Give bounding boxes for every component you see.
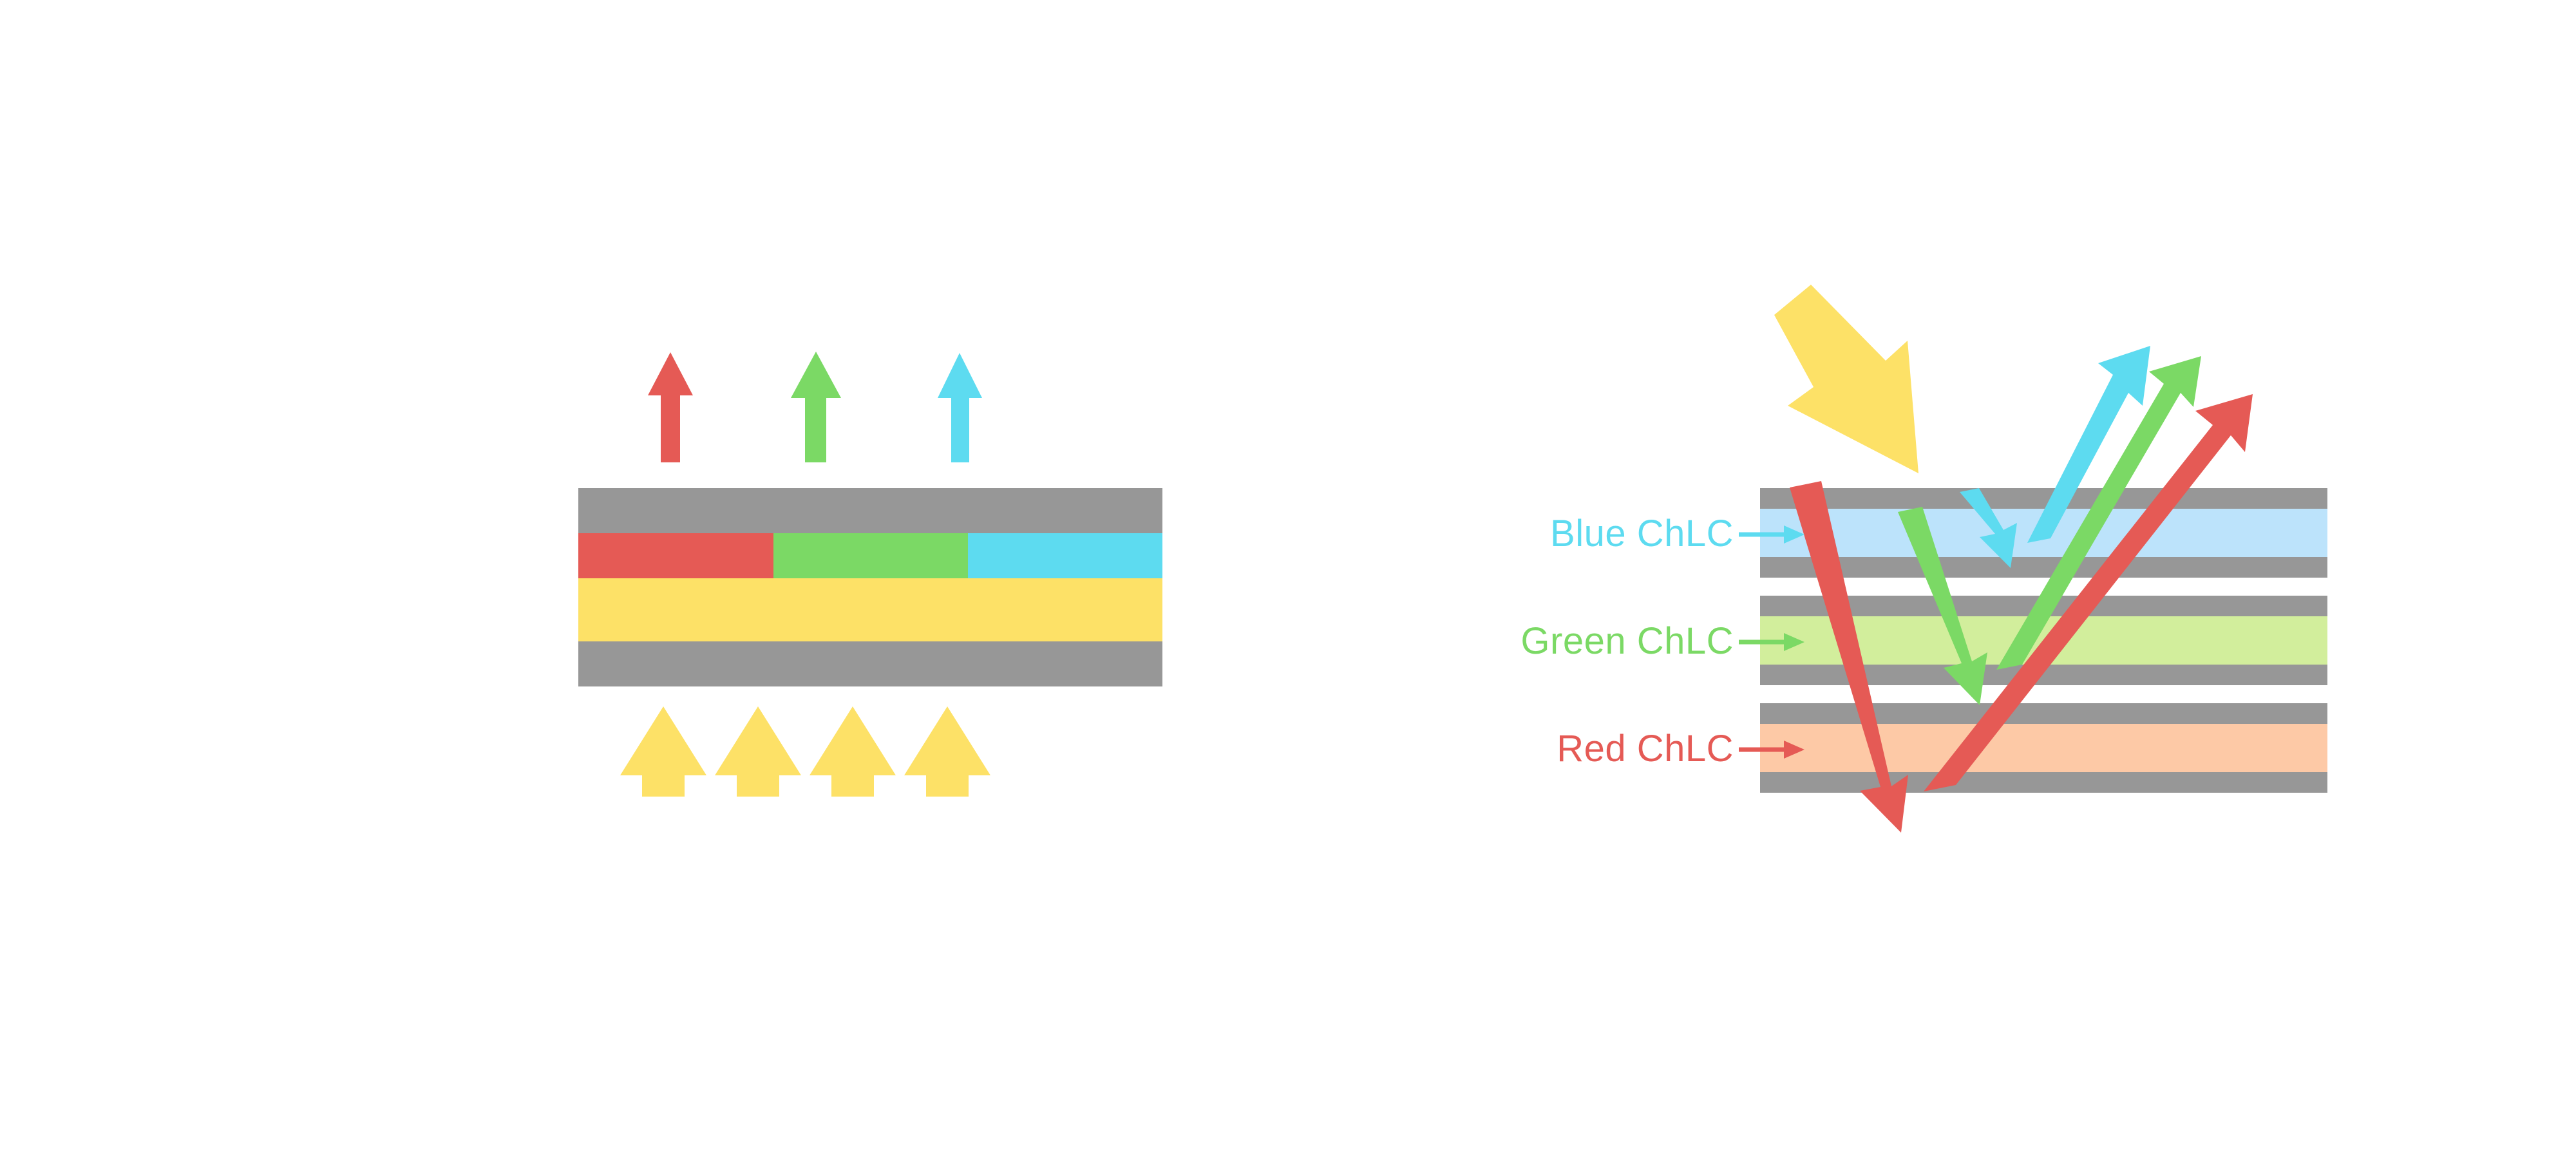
blue-top-substrate — [1760, 488, 2327, 509]
red-chlc-label-text: Red ChLC — [1557, 728, 1734, 770]
green-filter-segment — [773, 533, 968, 578]
red-bottom-substrate — [1760, 772, 2327, 793]
green-chlc-label-text: Green ChLC — [1520, 620, 1734, 662]
gap-2 — [1760, 685, 2327, 703]
bottom-electrode-layer — [578, 641, 1162, 686]
blue-chlc-label-text: Blue ChLC — [1550, 513, 1734, 554]
transmissive-color-filter-stack — [578, 488, 1162, 686]
blue-bottom-substrate — [1760, 557, 2327, 578]
backlight-layer — [578, 578, 1162, 641]
diagram-canvas: Blue ChLC Green ChLC Red ChLC — [0, 0, 2576, 1154]
top-electrode-layer — [578, 488, 1162, 533]
red-filter-segment — [578, 533, 773, 578]
red-chlc-layer — [1760, 724, 2327, 772]
figure-root: Blue ChLC Green ChLC Red ChLC — [0, 0, 2576, 1154]
red-top-substrate — [1760, 703, 2327, 724]
blue-filter-segment — [968, 533, 1162, 578]
color-filter-layer — [578, 533, 1162, 578]
